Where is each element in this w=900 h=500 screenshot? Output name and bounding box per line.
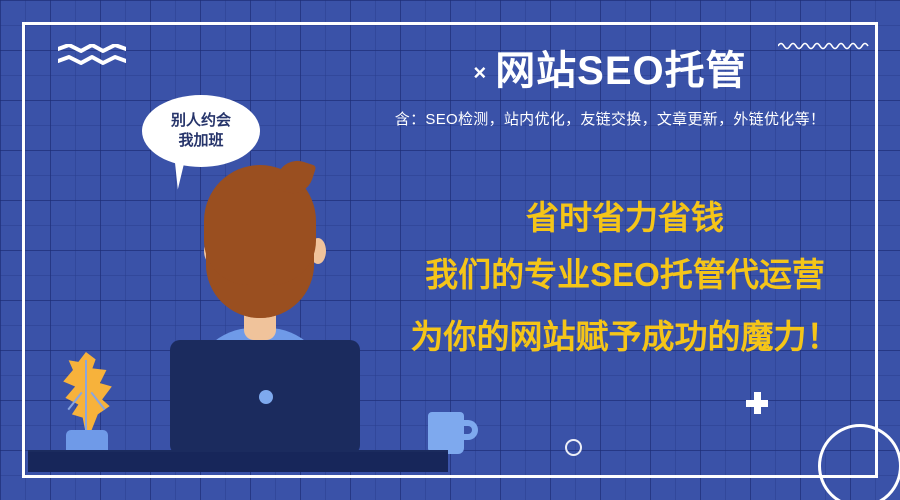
page-title-text: 网站SEO托管 [495,49,746,93]
page-subtitle: 含：SEO检测，站内优化，友链交换，文章更新，外链优化等！ [330,108,890,132]
coffee-cup-shape [428,412,464,454]
speech-bubble: 别人约会 我加班 [142,95,260,167]
leaf-vein-shape [85,360,87,434]
corner-circle-icon [818,424,900,500]
slogan-block: 省时省力省钱 我们的专业SEO托管代运营 为你的网站赋予成功的魔力！ [360,192,890,368]
small-circle-icon [565,439,582,456]
speech-bubble-line-1: 别人约会 [171,111,231,131]
page-title: ×网站SEO托管 [330,46,890,98]
slogan-line-2: 我们的专业SEO托管代运营 [360,244,890,306]
slogan-line-3: 为你的网站赋予成功的魔力！ [360,306,890,368]
zigzag-icon [58,44,126,66]
seo-banner: ×网站SEO托管 含：SEO检测，站内优化，友链交换，文章更新，外链优化等！ 省… [0,0,900,500]
x-mark-icon: × [473,60,487,85]
plus-icon [746,392,768,414]
speech-bubble-line-2: 我加班 [178,131,223,151]
leaf-shape [60,352,114,434]
slogan-line-1: 省时省力省钱 [360,192,890,244]
headline-block: ×网站SEO托管 含：SEO检测，站内优化，友链交换，文章更新，外链优化等！ [330,46,890,132]
desk-shape [28,452,448,472]
plant-illustration [52,352,122,457]
laptop-logo-icon [259,390,273,404]
